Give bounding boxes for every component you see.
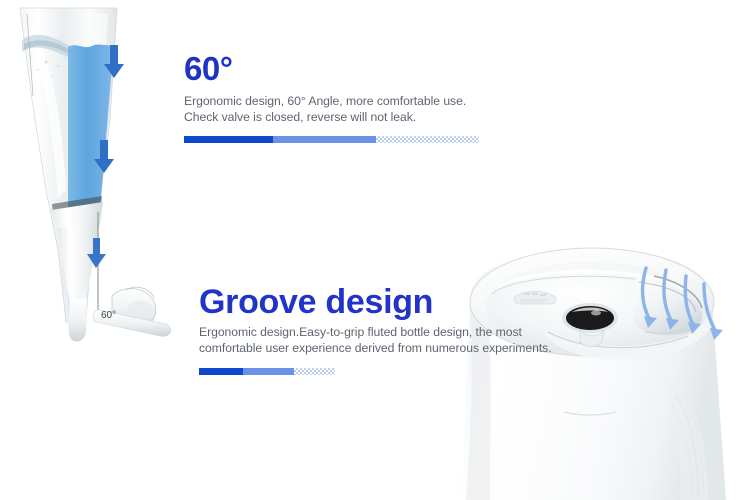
progress-segment-mid — [273, 136, 376, 143]
bottle-cross-section-illustration: 60° — [0, 0, 190, 350]
progress-segment-dark — [199, 368, 243, 375]
progress-bar-angle — [184, 136, 479, 143]
feature-body-groove: Ergonomic design.Easy-to-grip fluted bot… — [199, 325, 569, 356]
feature-block-groove: Groove design Ergonomic design.Easy-to-g… — [199, 285, 569, 375]
feature-body-angle: Ergonomic design, 60° Angle, more comfor… — [184, 94, 494, 125]
feature-block-angle: 60° Ergonomic design, 60° Angle, more co… — [184, 52, 494, 143]
promo-canvas: 60° — [0, 0, 750, 500]
feature-heading-angle: 60° — [184, 52, 494, 85]
progress-bar-groove — [199, 368, 335, 375]
feature-heading-groove: Groove design — [199, 285, 569, 319]
progress-segment-dotted — [376, 136, 479, 143]
progress-segment-dotted — [294, 368, 335, 375]
progress-segment-dark — [184, 136, 273, 143]
angle-label: 60° — [101, 310, 116, 321]
progress-segment-mid — [243, 368, 295, 375]
